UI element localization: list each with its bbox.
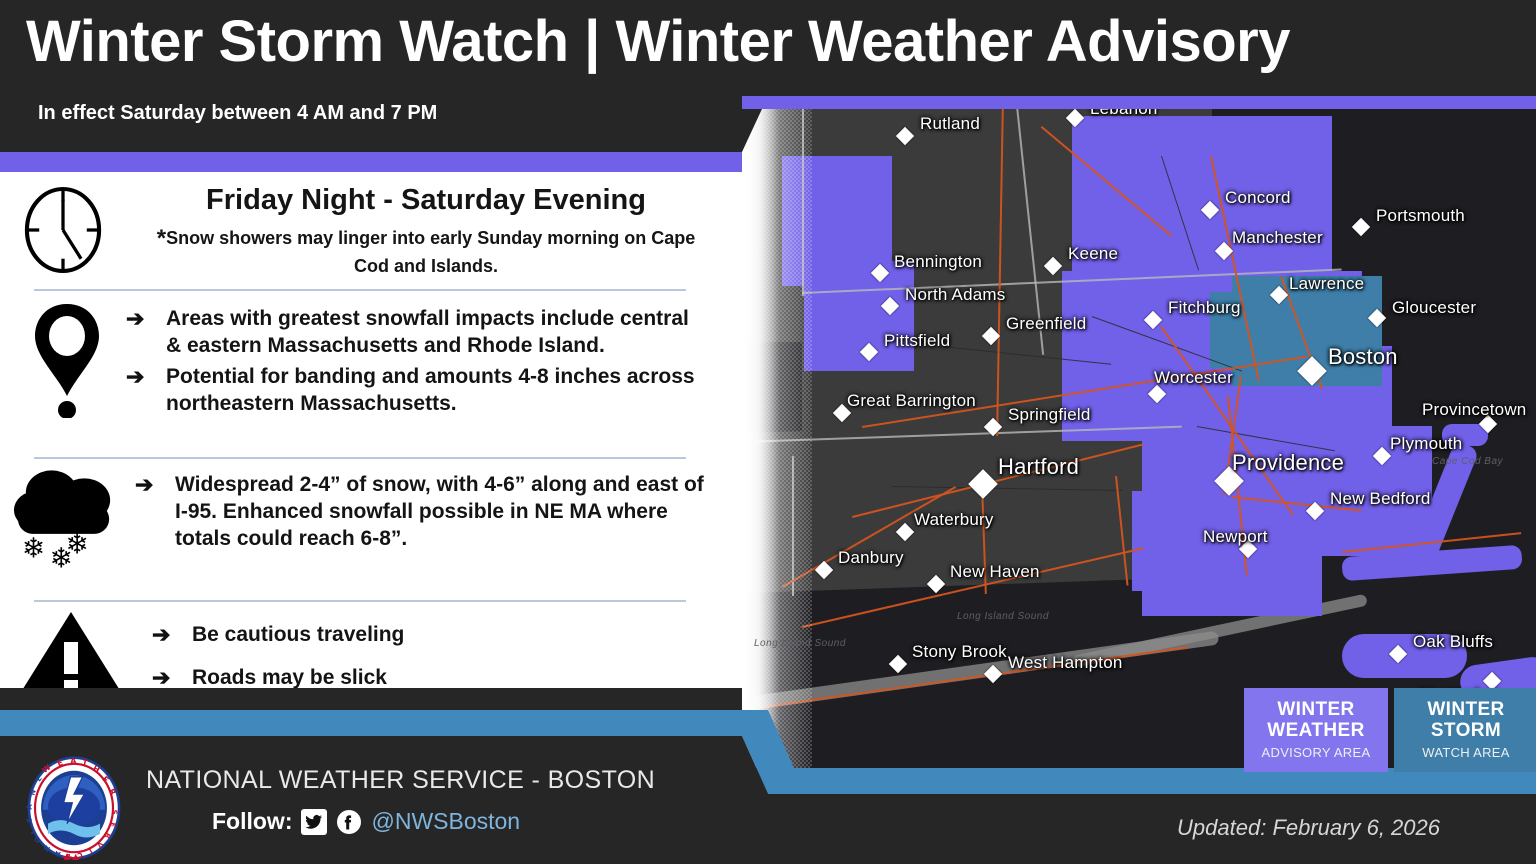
city-marker-west-hampton[interactable] [987,668,1000,681]
timing-heading: Friday Night - Saturday Evening [146,184,706,217]
city-label-fitchburg: Fitchburg [1168,298,1241,318]
city-label-worcester: Worcester [1154,368,1233,388]
page-title: Winter Storm Watch | Winter Weather Advi… [26,8,1290,75]
facebook-icon[interactable] [336,809,362,835]
legend-advisory-line1: WINTER [1277,700,1354,721]
city-diamond-icon [1373,447,1391,465]
footnote-marker: * [157,225,166,252]
city-label-danbury: Danbury [838,548,904,568]
city-marker-lebanon[interactable] [1069,112,1082,125]
city-marker-lawrence[interactable] [1273,289,1286,302]
city-diamond-icon [1368,309,1386,327]
city-marker-bennington[interactable] [874,267,887,280]
location-pin-icon [26,300,108,418]
snowfall-section: ❄ ❄ ❄ ➔ Widespread 2-4” of snow, with 4-… [10,466,720,574]
city-label-manchester: Manchester [1232,228,1323,248]
city-marker-concord[interactable] [1204,204,1217,217]
legend-advisory-sub: ADVISORY AREA [1262,745,1371,760]
arrow-icon: ➔ [135,472,175,499]
city-marker-stony-brook[interactable] [892,658,905,671]
impacts-bullet-1-text: Areas with greatest snowfall impacts inc… [166,306,706,360]
caution-section: ➔ Be cautious traveling ➔ Roads may be s… [12,608,722,704]
city-diamond-icon [982,327,1000,345]
city-marker-worcester[interactable] [1151,388,1164,401]
divider-1 [34,289,686,291]
city-label-new-haven: New Haven [950,562,1040,582]
divider-3 [34,600,686,602]
warning-triangle-icon [12,608,130,704]
city-label-boston: Boston [1328,344,1398,370]
city-diamond-icon [1352,218,1370,236]
city-diamond-icon [1066,109,1084,127]
city-diamond-icon [871,264,889,282]
state-border-ny-ct [792,456,794,596]
legend-watch-sub: WATCH AREA [1422,745,1510,760]
svg-text:❄: ❄ [66,528,89,561]
city-marker-manchester[interactable] [1218,245,1231,258]
city-marker-waterbury[interactable] [899,526,912,539]
legend-item-advisory[interactable]: WINTER WEATHER ADVISORY AREA [1244,688,1388,772]
snow-cloud-icon: ❄ ❄ ❄ [10,466,127,574]
clock-icon [22,184,104,276]
header-accent-bar [0,152,742,172]
svg-text:❄: ❄ [22,532,45,565]
advisory-area-ct-northeast [1132,491,1192,591]
divider-2 [34,457,686,459]
city-marker-pittsfield[interactable] [863,346,876,359]
city-label-keene: Keene [1068,244,1118,264]
city-label-portsmouth: Portsmouth [1376,206,1465,226]
arrow-icon: ➔ [126,306,166,333]
city-label-north-adams: North Adams [905,285,1005,305]
legend-item-watch[interactable]: WINTER STORM WATCH AREA [1394,688,1536,772]
city-marker-gloucester[interactable] [1371,312,1384,325]
social-handle[interactable]: @NWSBoston [371,808,520,835]
city-label-rutland: Rutland [920,114,980,134]
city-marker-springfield[interactable] [987,421,1000,434]
city-diamond-icon [1306,502,1324,520]
city-diamond-icon [860,343,878,361]
city-diamond-icon [889,655,907,673]
city-diamond-icon [1215,242,1233,260]
impacts-bullet-2-text: Potential for banding and amounts 4-8 in… [166,364,706,418]
water-label-1: Long Island Sound [754,638,846,649]
forecast-map[interactable]: Long Island SoundLong Island SoundCape C… [742,96,1536,768]
impacts-bullet-1: ➔ Areas with greatest snowfall impacts i… [126,306,706,360]
impacts-bullet-2: ➔ Potential for banding and amounts 4-8 … [126,364,706,418]
snowfall-bullet-1: ➔ Widespread 2-4” of snow, with 4-6” alo… [135,472,720,553]
city-label-oak-bluffs: Oak Bluffs [1413,632,1493,652]
city-label-greenfield: Greenfield [1006,314,1086,334]
footer-blue-bar-left [0,710,742,736]
city-diamond-icon [1389,645,1407,663]
city-marker-plymouth[interactable] [1376,450,1389,463]
updated-timestamp: Updated: February 6, 2026 [1177,815,1440,841]
map-legend: WINTER WEATHER ADVISORY AREA WINTER STOR… [1244,688,1536,772]
legend-watch-line1: WINTER [1427,700,1504,721]
city-label-springfield: Springfield [1008,405,1091,425]
city-label-gloucester: Gloucester [1392,298,1476,318]
info-panel: Friday Night - Saturday Evening *Snow sh… [0,172,742,710]
svg-text:A: A [26,804,34,810]
city-label-stony-brook: Stony Brook [912,642,1007,662]
city-diamond-icon [1270,286,1288,304]
nws-logo: W E A T H E R S E R V I C E N A T I O N … [22,756,126,860]
timing-section: Friday Night - Saturday Evening *Snow sh… [22,184,722,278]
legend-advisory-line2: WEATHER [1267,721,1364,742]
arrow-icon: ➔ [152,622,192,649]
weather-graphic: Long Island SoundLong Island SoundCape C… [0,0,1536,864]
city-label-concord: Concord [1225,188,1291,208]
city-label-plymouth: Plymouth [1390,434,1462,454]
timing-footnote: *Snow showers may linger into early Sund… [146,223,706,278]
city-marker-boston[interactable] [1302,361,1323,382]
city-marker-portsmouth[interactable] [1355,221,1368,234]
caution-bullet-1-text: Be cautious traveling [192,622,404,649]
city-diamond-icon [896,523,914,541]
city-label-bennington: Bennington [894,252,982,272]
water-label-2: Cape Cod Bay [1432,456,1503,467]
effective-time: In effect Saturday between 4 AM and 7 PM [38,102,437,125]
city-diamond-icon [881,297,899,315]
state-border-ny-vt [802,96,804,296]
social-follow: Follow: @NWSBoston [212,808,520,835]
city-diamond-icon [984,665,1002,683]
city-marker-new-bedford[interactable] [1309,505,1322,518]
city-marker-greenfield[interactable] [985,330,998,343]
caution-bullet-2-text: Roads may be slick [192,665,387,692]
legend-watch-line2: STORM [1431,721,1501,742]
caution-bullet-1: ➔ Be cautious traveling [152,622,722,649]
office-name: NATIONAL WEATHER SERVICE - BOSTON [146,766,655,795]
city-marker-north-adams[interactable] [884,300,897,313]
arrow-icon: ➔ [152,665,192,692]
city-diamond-icon [1297,356,1327,386]
footnote-text: Snow showers may linger into early Sunda… [166,228,695,276]
city-diamond-icon [984,418,1002,436]
city-label-lawrence: Lawrence [1289,274,1364,294]
city-marker-oak-bluffs[interactable] [1392,648,1405,661]
city-diamond-icon [815,561,833,579]
city-diamond-icon [1144,311,1162,329]
follow-label: Follow: [212,808,292,835]
city-label-pittsfield: Pittsfield [884,331,950,351]
impacts-section: ➔ Areas with greatest snowfall impacts i… [26,300,726,422]
city-label-new-bedford: New Bedford [1330,489,1430,509]
city-marker-new-haven[interactable] [930,578,943,591]
snowfall-bullet-1-text: Widespread 2-4” of snow, with 4-6” along… [175,472,720,553]
city-marker-danbury[interactable] [818,564,831,577]
city-label-hartford: Hartford [998,454,1079,480]
arrow-icon: ➔ [126,364,166,391]
twitter-icon[interactable] [301,809,327,835]
city-marker-fitchburg[interactable] [1147,314,1160,327]
caution-bullet-2: ➔ Roads may be slick [152,665,722,692]
svg-text:S: S [110,810,118,815]
city-marker-rutland[interactable] [899,130,912,143]
city-label-newport: Newport [1203,527,1268,547]
city-diamond-icon [1044,257,1062,275]
advisory-area-berkshires [804,261,914,371]
city-diamond-icon [968,469,998,499]
city-label-providence: Providence [1232,450,1344,476]
city-marker-hartford[interactable] [973,474,994,495]
city-diamond-icon [1201,201,1219,219]
city-diamond-icon [927,575,945,593]
city-label-great-barrington: Great Barrington [847,391,976,411]
city-diamond-icon [896,127,914,145]
map-top-purple-bar [742,96,1536,109]
city-label-provincetown: Provincetown [1422,400,1526,420]
city-label-west-hampton: West Hampton [1008,653,1123,673]
city-marker-keene[interactable] [1047,260,1060,273]
city-label-waterbury: Waterbury [914,510,994,530]
water-label-0: Long Island Sound [957,611,1049,622]
svg-text:A: A [70,756,77,765]
